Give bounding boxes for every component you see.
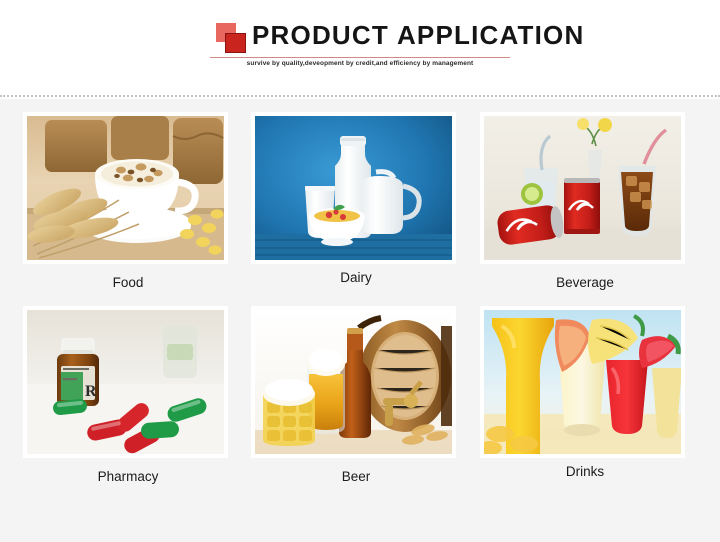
photo-pharmacy: R xyxy=(27,310,224,454)
slide-header: PRODUCTAPPLICATION survive by quality,de… xyxy=(0,0,720,96)
header-divider xyxy=(0,95,720,97)
card-label-pharmacy: Pharmacy xyxy=(23,469,233,485)
photo-frame-beer xyxy=(251,306,456,458)
title-block: PRODUCTAPPLICATION survive by quality,de… xyxy=(196,18,526,74)
drinks-illustration xyxy=(484,310,681,454)
page-title-secondary: APPLICATION xyxy=(397,20,585,50)
dairy-illustration xyxy=(255,116,452,260)
photo-beer xyxy=(255,310,452,454)
photo-frame-drinks xyxy=(480,306,685,458)
card-label-beverage: Beverage xyxy=(480,275,690,291)
photo-drinks xyxy=(484,310,681,454)
card-dairy[interactable]: Dairy xyxy=(251,112,461,286)
two-red-squares-logo-icon xyxy=(216,23,250,55)
photo-dairy xyxy=(255,116,452,260)
photo-frame-food xyxy=(23,112,228,264)
card-beer[interactable]: Beer xyxy=(251,306,461,485)
photo-frame-pharmacy: R xyxy=(23,306,228,458)
card-food[interactable]: Food xyxy=(23,112,233,291)
logo-square-front xyxy=(225,33,246,53)
slide: PRODUCTAPPLICATION survive by quality,de… xyxy=(0,0,720,542)
card-beverage[interactable]: Beverage xyxy=(480,112,690,291)
page-title-primary: PRODUCT xyxy=(252,20,389,50)
card-pharmacy[interactable]: R xyxy=(23,306,233,485)
card-label-dairy: Dairy xyxy=(251,270,461,286)
title-subtitle: survive by quality,deveopment by credit,… xyxy=(210,60,510,67)
photo-frame-beverage xyxy=(480,112,685,264)
card-drinks[interactable]: Drinks xyxy=(480,306,690,480)
photo-food xyxy=(27,116,224,260)
beer-illustration xyxy=(255,310,452,454)
page-title: PRODUCTAPPLICATION xyxy=(252,18,584,52)
photo-beverage xyxy=(484,116,681,260)
food-illustration xyxy=(27,116,224,260)
card-label-food: Food xyxy=(23,275,233,291)
title-underline xyxy=(210,57,510,58)
pharmacy-illustration: R xyxy=(27,310,224,454)
card-label-drinks: Drinks xyxy=(480,464,690,480)
photo-frame-dairy xyxy=(251,112,456,264)
product-application-grid: Food xyxy=(0,99,720,542)
card-label-beer: Beer xyxy=(251,469,461,485)
content-panel: Food xyxy=(0,99,720,542)
svg-text:R: R xyxy=(85,383,97,400)
beverage-illustration xyxy=(484,116,681,260)
